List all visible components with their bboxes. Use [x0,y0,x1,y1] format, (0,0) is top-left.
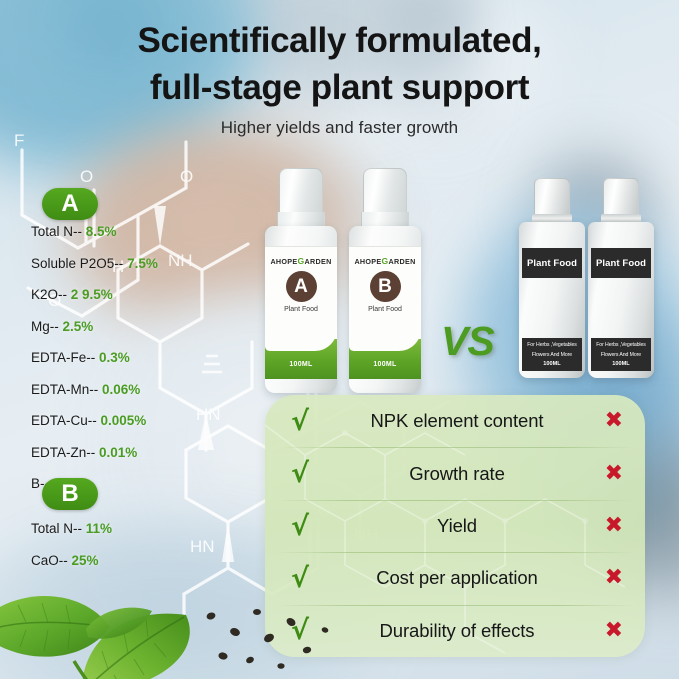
nutrient-row: Total N-- 8.5% [31,224,117,239]
brand-logo: AHOPEGARDEN [349,256,421,266]
nutrient-row: Mg-- 2.5% [31,319,93,334]
bottle-cap [279,168,323,218]
comparison-row: √Cost per application✖ [265,552,645,604]
nutrient-value: 11% [86,521,112,536]
nutrient-row: EDTA-Fe-- 0.3% [31,350,130,365]
competitor-label-line2: Flowers And More [591,351,651,360]
competitor-bottle-2[interactable]: Plant Food For Herbs ,Vegetables Flowers… [588,178,654,378]
nutrient-value: 7.5% [127,256,158,271]
formula-b-badge: B [42,478,98,510]
nutrient-label: Mg-- [31,319,59,334]
competitor-label-title: Plant Food [522,248,582,278]
versus-label: VS [441,318,494,365]
page-title: Scientifically formulated, full-stage pl… [0,18,679,111]
competitor-label-line2: Flowers And More [522,351,582,360]
svg-text:NH: NH [168,251,193,270]
bottle-cap [363,168,407,218]
check-icon: √ [291,565,317,592]
svg-text:HN: HN [196,405,221,424]
nutrient-value: 0.005% [101,413,147,428]
product-infographic: F O O H NH O HN O HN O NH Scientifically… [0,0,679,679]
check-icon: √ [291,408,317,435]
comparison-feature-label: Yield [317,515,597,537]
comparison-row: √Yield✖ [265,500,645,552]
bottle-label: AHOPEGARDEN B Plant Food 100ML [349,246,421,379]
nutrient-label: EDTA-Zn-- [31,445,95,460]
competitor-label-line1: For Herbs ,Vegetables [591,341,651,351]
leaf-icon: G [382,256,389,266]
brand-text-post: ARDEN [389,257,416,266]
nutrient-row: EDTA-Mn-- 0.06% [31,382,140,397]
page-subtitle: Higher yields and faster growth [0,118,679,138]
cross-icon: ✖ [597,463,623,485]
competitor-label-bottom: For Herbs ,Vegetables Flowers And More 1… [591,338,651,371]
competitor-label-volume: 100ML [591,360,651,370]
nutrient-label: Soluble P2O5-- [31,256,123,271]
gear-badge-a: A [286,271,317,302]
product-bottle-b[interactable]: AHOPEGARDEN B Plant Food 100ML [349,168,421,393]
product-bottle-a[interactable]: AHOPEGARDEN A Plant Food 100ML [265,168,337,393]
check-icon: √ [291,460,317,487]
formula-a-badge: A [42,188,98,220]
comparison-feature-label: Cost per application [317,567,597,589]
cross-icon: ✖ [597,620,623,642]
svg-text:HN: HN [190,537,215,556]
nutrient-row: EDTA-Zn-- 0.01% [31,445,137,460]
cross-icon: ✖ [597,567,623,589]
svg-text:O: O [80,167,93,186]
bottle-product-name: Plant Food [265,306,337,313]
competitor-label-line1: For Herbs ,Vegetables [522,341,582,351]
nutrient-value: 0.06% [102,382,140,397]
nutrient-row: Total N-- 11% [31,521,112,536]
gear-badge-b: B [370,271,401,302]
competitor-label-bottom: For Herbs ,Vegetables Flowers And More 1… [522,338,582,371]
headline-line-2: full-stage plant support [0,65,679,112]
competitor-bottle-1[interactable]: Plant Food For Herbs ,Vegetables Flowers… [519,178,585,378]
nutrient-label: Total N-- [31,521,82,536]
nutrient-value: 2 9.5% [71,287,113,302]
nutrient-label: EDTA-Mn-- [31,382,98,397]
nutrient-value: 2.5% [63,319,94,334]
comparison-feature-label: NPK element content [317,410,597,432]
comparison-row: √Growth rate✖ [265,447,645,499]
leaf-icon: G [298,256,305,266]
nutrient-value: 0.3% [99,350,130,365]
competitor-label-title: Plant Food [591,248,651,278]
seeds-illustration [195,600,345,679]
nutrient-label: Total N-- [31,224,82,239]
comparison-feature-label: Growth rate [317,463,597,485]
nutrient-label: EDTA-Cu-- [31,413,97,428]
check-icon: √ [291,513,317,540]
brand-text-pre: AHOPE [354,257,381,266]
bottle-volume: 100ML [265,361,337,368]
headline-line-1: Scientifically formulated, [0,18,679,65]
nutrient-row: K2O-- 2 9.5% [31,287,113,302]
cross-icon: ✖ [597,515,623,537]
brand-text-post: ARDEN [305,257,332,266]
brand-logo: AHOPEGARDEN [265,256,337,266]
comparison-feature-label: Durability of effects [317,620,597,642]
bottle-label: AHOPEGARDEN A Plant Food 100ML [265,246,337,379]
bottle-green-band [349,339,421,379]
brand-text-pre: AHOPE [270,257,297,266]
nutrient-label: EDTA-Fe-- [31,350,95,365]
svg-text:O: O [180,167,193,186]
nutrient-label: K2O-- [31,287,67,302]
bottle-product-name: Plant Food [349,306,421,313]
nutrient-row: EDTA-Cu-- 0.005% [31,413,146,428]
nutrient-row: Soluble P2O5-- 7.5% [31,256,158,271]
competitor-label-volume: 100ML [522,360,582,370]
bottle-green-band [265,339,337,379]
cross-icon: ✖ [597,410,623,432]
nutrient-value: 8.5% [86,224,117,239]
nutrient-value: 0.01% [99,445,137,460]
comparison-row: √NPK element content✖ [265,395,645,447]
bottle-volume: 100ML [349,361,421,368]
